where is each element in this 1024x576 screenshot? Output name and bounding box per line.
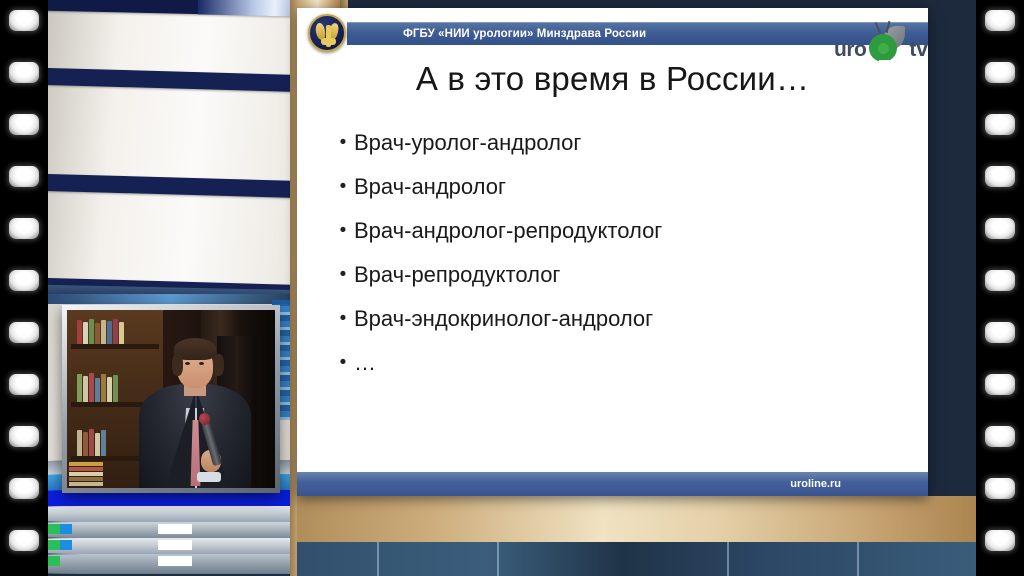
film-sprocket-hole	[985, 166, 1015, 187]
film-strip-right	[976, 0, 1024, 576]
list-item: • …	[332, 350, 898, 376]
film-sprocket-hole	[9, 114, 39, 135]
studio-side-screen-top	[48, 294, 292, 304]
website-label: uroline.ru	[790, 472, 841, 496]
film-sprocket-hole	[985, 322, 1015, 343]
presenter-video-frame	[67, 310, 275, 488]
studio-gold-band	[297, 496, 976, 542]
slide-bullet-list: • Врач-уролог-андролог • Врач-андролог •…	[332, 130, 898, 394]
film-sprocket-hole	[985, 530, 1015, 551]
bullet-dot-icon: •	[332, 174, 354, 200]
slide-title: А в это время в России…	[297, 60, 928, 98]
film-strip-left	[0, 0, 48, 576]
list-item-label: Врач-андролог-репродуктолог	[354, 218, 662, 244]
film-sprocket-hole	[985, 10, 1015, 31]
film-sprocket-hole	[9, 62, 39, 83]
list-item-label: Врач-репродуктолог	[354, 262, 560, 288]
film-sprocket-hole	[9, 478, 39, 499]
list-item-label: Врач-уролог-андролог	[354, 130, 581, 156]
book-stack	[69, 462, 103, 486]
urotv-logo: uro tv	[834, 18, 926, 64]
film-sprocket-hole	[985, 218, 1015, 239]
bullet-dot-icon: •	[332, 130, 354, 156]
bullet-dot-icon: •	[332, 262, 354, 288]
bullet-dot-icon: •	[332, 350, 354, 376]
studio-lower-band	[297, 542, 976, 576]
list-item-label: Врач-андролог	[354, 174, 506, 200]
list-item: • Врач-репродуктолог	[332, 262, 898, 288]
broadcast-frame: ФГБУ «НИИ урологии» Минздрава России uro…	[0, 0, 1024, 576]
film-sprocket-hole	[985, 374, 1015, 395]
presenter-video-inset[interactable]	[62, 305, 280, 493]
list-item: • Врач-уролог-андролог	[332, 130, 898, 156]
bullet-dot-icon: •	[332, 218, 354, 244]
urotv-logo-suffix: tv	[909, 38, 928, 62]
film-sprocket-hole	[9, 322, 39, 343]
list-item: • Врач-андролог-репродуктолог	[332, 218, 898, 244]
nii-urologii-emblem-icon	[308, 14, 346, 52]
film-sprocket-hole	[985, 478, 1015, 499]
list-item: • Врач-эндокринолог-андролог	[332, 306, 898, 332]
urotv-logo-word: uro	[834, 38, 866, 62]
bullet-dot-icon: •	[332, 306, 354, 332]
slide-footer: uroline.ru	[297, 472, 928, 496]
film-sprocket-hole	[9, 426, 39, 447]
film-sprocket-hole	[9, 530, 39, 551]
slide-header: ФГБУ «НИИ урологии» Минздрава России uro…	[297, 8, 928, 58]
list-item: • Врач-андролог	[332, 174, 898, 200]
list-item-label: Врач-эндокринолог-андролог	[354, 306, 653, 332]
film-sprocket-hole	[9, 166, 39, 187]
organization-label: ФГБУ «НИИ урологии» Минздрава России	[403, 23, 646, 46]
film-sprocket-hole	[985, 62, 1015, 83]
film-sprocket-hole	[9, 10, 39, 31]
presentation-slide[interactable]: ФГБУ «НИИ урологии» Минздрава России uro…	[297, 8, 928, 496]
film-sprocket-hole	[9, 218, 39, 239]
film-sprocket-hole	[985, 270, 1015, 291]
presenter	[139, 338, 251, 488]
film-sprocket-hole	[985, 426, 1015, 447]
urotv-mascot-icon	[865, 22, 905, 62]
film-sprocket-hole	[9, 374, 39, 395]
film-sprocket-hole	[9, 270, 39, 291]
film-sprocket-hole	[985, 114, 1015, 135]
list-item-label: …	[354, 350, 376, 376]
